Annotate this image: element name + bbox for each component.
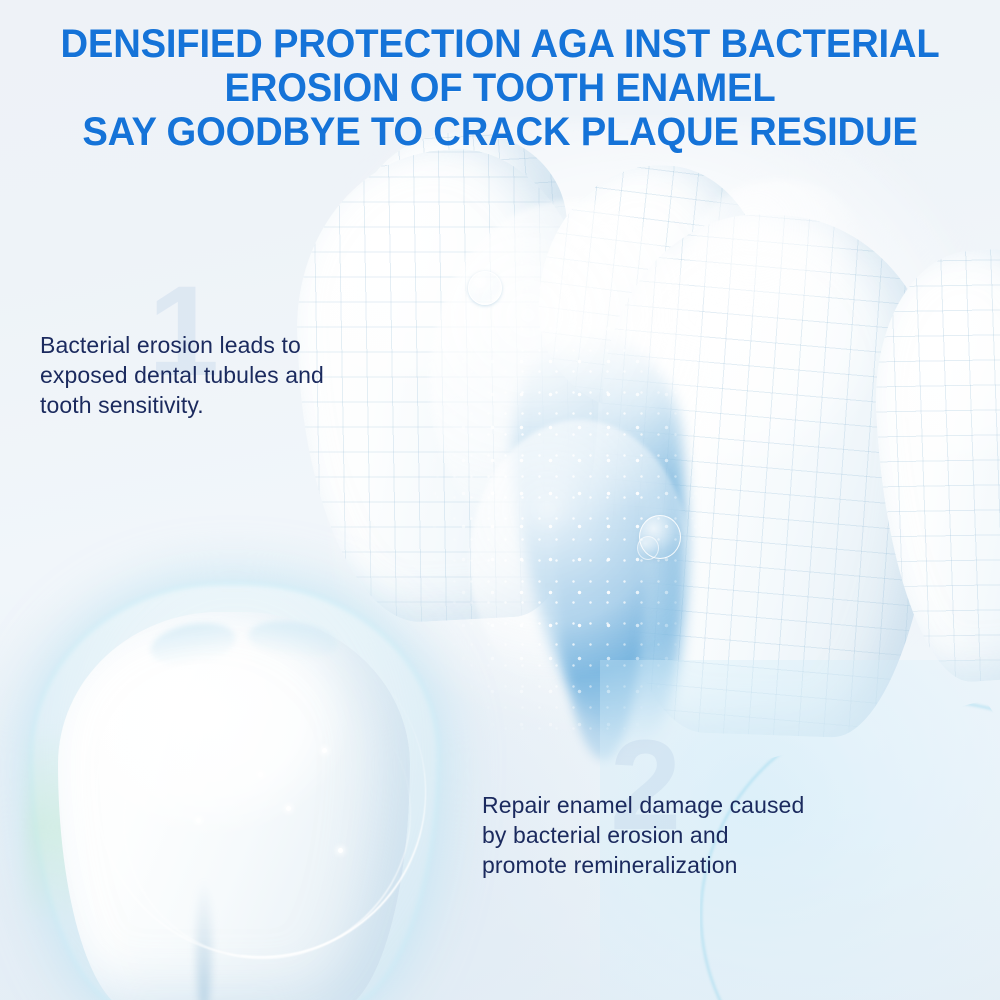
molar-back-cusp (532, 157, 779, 422)
plaque-water-gap (502, 323, 708, 756)
water-spray-upper (430, 200, 710, 560)
step-1: 1 Bacterial erosion leads to exposed den… (40, 330, 440, 420)
protective-shield-halo (30, 582, 440, 1000)
tooth-root-split (196, 880, 212, 1000)
headline-line-3: SAY GOODBYE TO CRACK PLAQUE RESIDUE (23, 110, 978, 154)
water-spray-right (690, 180, 870, 330)
water-droplet-specks (420, 180, 740, 740)
background-haze (330, 120, 1000, 740)
tooth-gloss-arc-inner (71, 624, 462, 1000)
poster-canvas: DENSIFIED PROTECTION AGA INST BACTERIAL … (0, 0, 1000, 1000)
sparkle-2 (286, 806, 291, 811)
sparkle-5 (338, 848, 343, 853)
tooth-cusp-right (246, 617, 340, 664)
tooth-cusp-left (147, 617, 239, 671)
headline: DENSIFIED PROTECTION AGA INST BACTERIAL … (23, 22, 978, 154)
sparkle-4 (196, 818, 201, 823)
sparkle-3 (322, 748, 327, 753)
step-2-description: Repair enamel damage caused by bacterial… (482, 790, 902, 880)
enamel-droplet-small (637, 536, 659, 560)
molar-far-right (865, 243, 1000, 687)
sparkle-1 (258, 772, 263, 777)
enamel-droplet-medium (468, 271, 502, 305)
hero-molar-tooth (58, 612, 410, 1000)
headline-line-2: EROSION OF TOOTH ENAMEL (23, 66, 978, 110)
step-2: 2 Repair enamel damage caused by bacteri… (482, 790, 902, 880)
tooth-gloss-arc-outer (29, 561, 492, 1000)
step-1-description: Bacterial erosion leads to exposed denta… (40, 330, 440, 420)
molar-front-right (591, 209, 949, 741)
enamel-droplet-large (639, 515, 681, 559)
headline-line-1: DENSIFIED PROTECTION AGA INST BACTERIAL (23, 22, 978, 66)
water-spray-lower (470, 420, 690, 700)
